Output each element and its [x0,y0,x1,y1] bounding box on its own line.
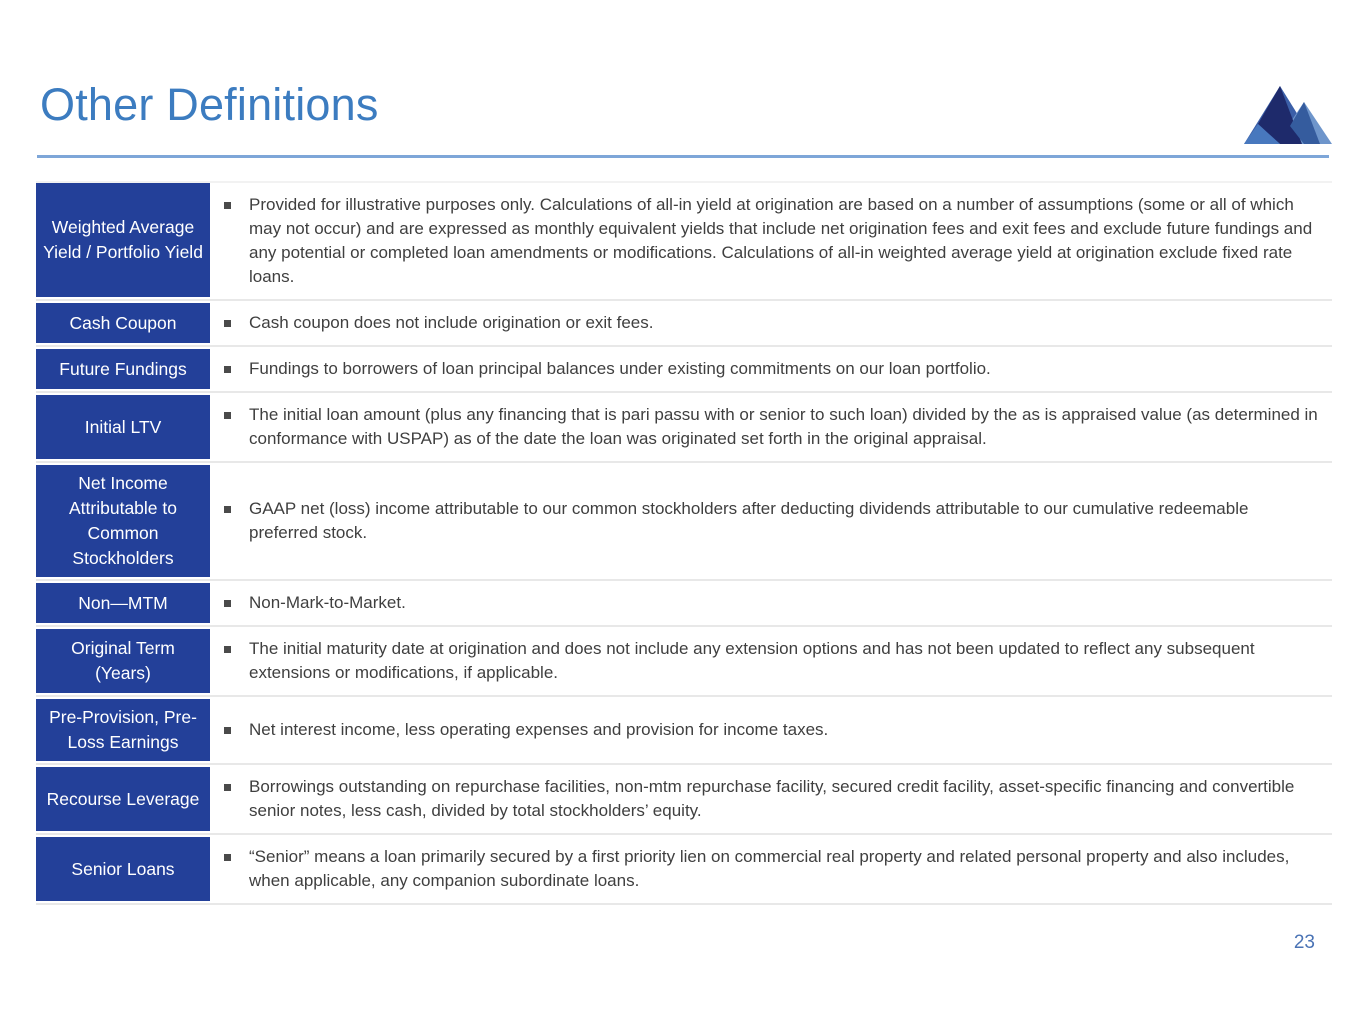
row-term-label: Recourse Leverage [36,765,210,833]
row-definition-cell: The initial loan amount (plus any financ… [210,393,1332,461]
row-definition-text: Net interest income, less operating expe… [249,718,828,742]
square-bullet-icon [224,646,231,653]
row-term-label: Pre-Provision, Pre-Loss Earnings [36,697,210,763]
mountain-peaks-logo [1228,84,1334,150]
row-definition-cell: Non-Mark-to-Market. [210,581,1332,625]
table-row: Pre-Provision, Pre-Loss Earnings Net int… [36,697,1332,765]
row-definition-cell: “Senior” means a loan primarily secured … [210,835,1332,903]
row-definition-cell: Fundings to borrowers of loan principal … [210,347,1332,391]
row-definition-cell: Cash coupon does not include origination… [210,301,1332,345]
table-row: Net Income Attributable to Common Stockh… [36,463,1332,581]
square-bullet-icon [224,412,231,419]
row-definition-text: Non-Mark-to-Market. [249,591,406,615]
table-row: Recourse Leverage Borrowings outstanding… [36,765,1332,835]
row-term-label: Senior Loans [36,835,210,903]
page-number: 23 [1294,932,1315,954]
definitions-table: Weighted Average Yield / Portfolio Yield… [36,181,1332,905]
table-row: Future Fundings Fundings to borrowers of… [36,347,1332,393]
table-row: Original Term (Years) The initial maturi… [36,627,1332,697]
row-definition-cell: Provided for illustrative purposes only.… [210,183,1332,299]
row-definition-text: Provided for illustrative purposes only.… [249,193,1320,289]
row-term-label: Cash Coupon [36,301,210,345]
square-bullet-icon [224,854,231,861]
row-definition-text: Fundings to borrowers of loan principal … [249,357,991,381]
square-bullet-icon [224,506,231,513]
row-term-label: Initial LTV [36,393,210,461]
row-definition-text: Cash coupon does not include origination… [249,311,653,335]
table-row: Weighted Average Yield / Portfolio Yield… [36,181,1332,301]
table-row: Senior Loans “Senior” means a loan prima… [36,835,1332,905]
row-term-label: Non—MTM [36,581,210,625]
title-divider-rule [37,155,1329,158]
row-term-label: Net Income Attributable to Common Stockh… [36,463,210,579]
row-definition-cell: Borrowings outstanding on repurchase fac… [210,765,1332,833]
row-definition-cell: The initial maturity date at origination… [210,627,1332,695]
square-bullet-icon [224,320,231,327]
square-bullet-icon [224,784,231,791]
table-row: Non—MTM Non-Mark-to-Market. [36,581,1332,627]
square-bullet-icon [224,727,231,734]
table-row: Cash Coupon Cash coupon does not include… [36,301,1332,347]
square-bullet-icon [224,600,231,607]
row-definition-text: GAAP net (loss) income attributable to o… [249,497,1320,545]
slide-header: Other Definitions [0,0,1365,160]
slide-canvas: Other Definitions Weighted Average Yield… [0,0,1365,1024]
table-row: Initial LTV The initial loan amount (plu… [36,393,1332,463]
square-bullet-icon [224,202,231,209]
row-definition-text: “Senior” means a loan primarily secured … [249,845,1320,893]
row-definition-text: The initial maturity date at origination… [249,637,1320,685]
row-term-label: Weighted Average Yield / Portfolio Yield [36,183,210,299]
row-term-label: Future Fundings [36,347,210,391]
row-definition-cell: GAAP net (loss) income attributable to o… [210,463,1332,579]
row-definition-cell: Net interest income, less operating expe… [210,697,1332,763]
row-term-label: Original Term (Years) [36,627,210,695]
row-definition-text: Borrowings outstanding on repurchase fac… [249,775,1320,823]
square-bullet-icon [224,366,231,373]
page-title: Other Definitions [40,82,379,127]
row-definition-text: The initial loan amount (plus any financ… [249,403,1320,451]
